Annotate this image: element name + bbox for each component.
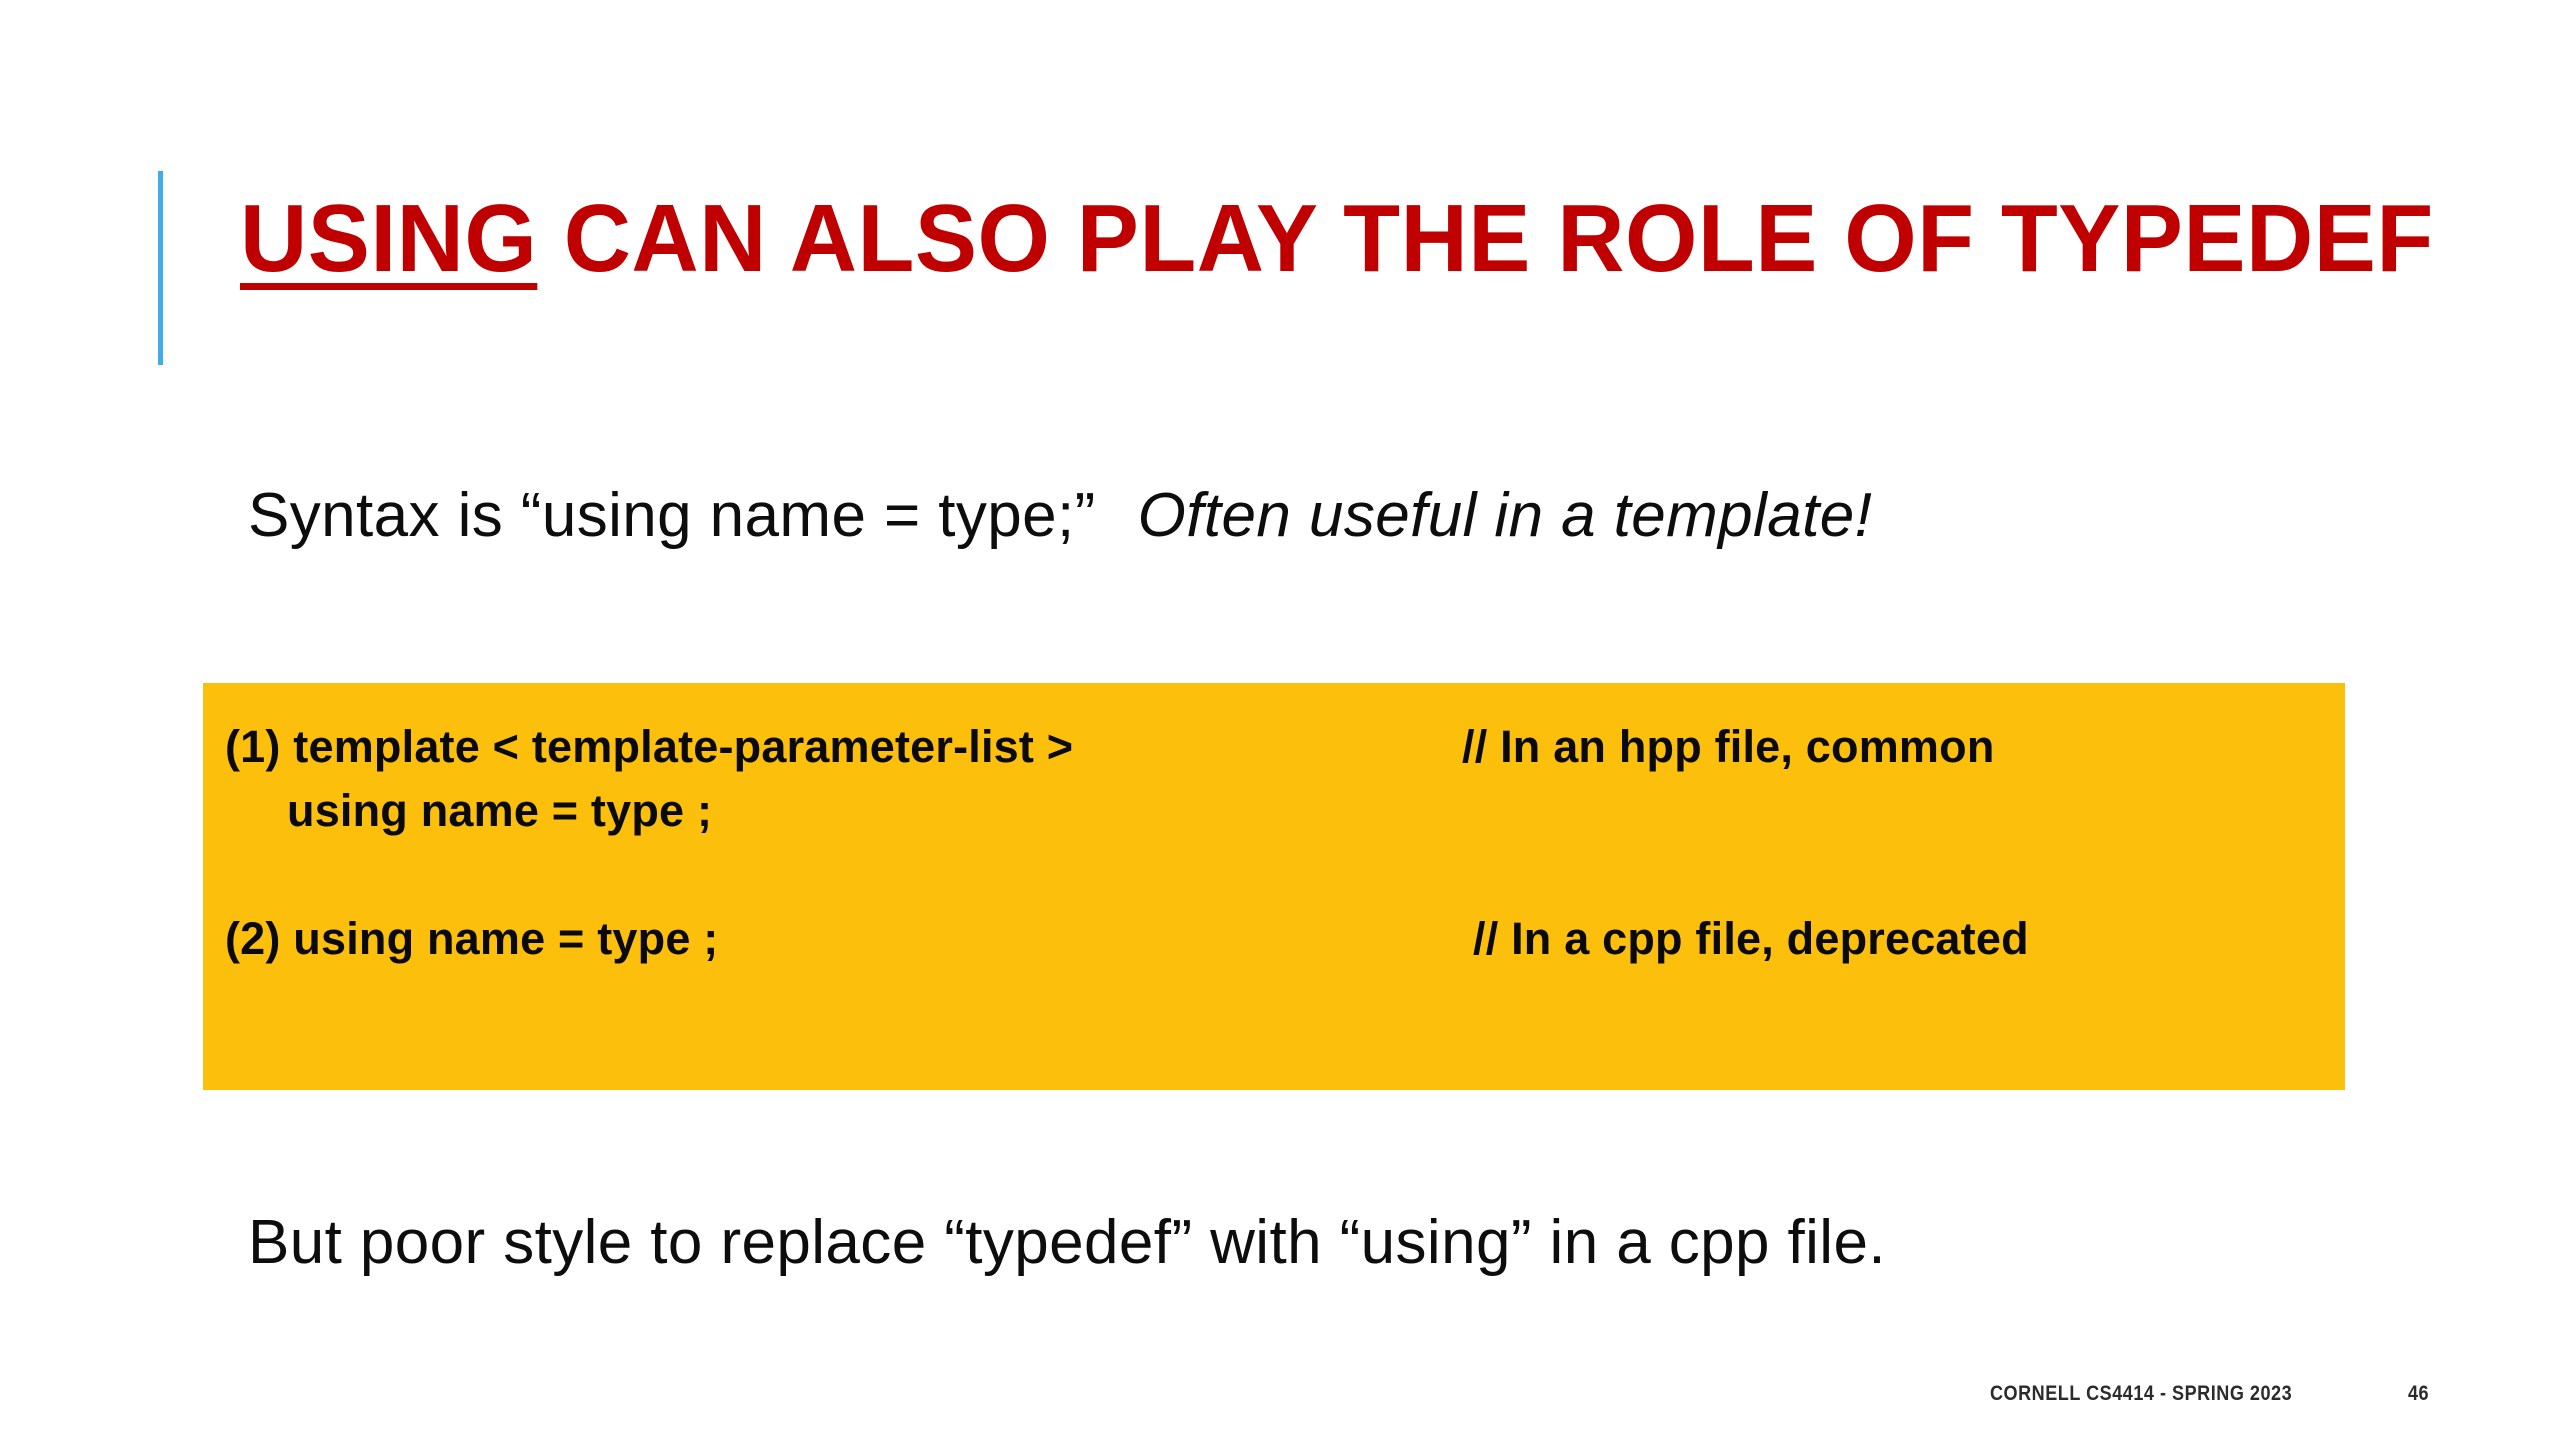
code-row: (1) template < template-parameter-list >… — [225, 715, 2345, 779]
syntax-subtitle-emphasis: Often useful in a template! — [1138, 481, 1873, 550]
slide-footer: CORNELL CS4414 - SPRING 2023 46 — [1990, 1382, 2510, 1412]
code-row-spacer — [225, 843, 2345, 907]
footer-course-label: CORNELL CS4414 - SPRING 2023 — [1990, 1382, 2292, 1406]
footer-page-number: 46 — [2408, 1382, 2429, 1406]
code-row-comment: // In an hpp file, common — [1462, 715, 1995, 779]
page-title: using can also play the role of typedef — [240, 183, 2423, 295]
code-row: (2) using name = type ; // In a cpp file… — [225, 907, 2345, 971]
code-row: using name = type ; — [225, 779, 2345, 843]
code-row-text: using name = type ; — [225, 779, 712, 843]
code-row-text: (1) template < template-parameter-list > — [225, 715, 1073, 779]
code-row-text: (2) using name = type ; — [225, 907, 718, 971]
syntax-subtitle: Syntax is “using name = type;”Often usef… — [248, 478, 1872, 554]
title-keyword: using — [240, 185, 537, 292]
bottom-note: But poor style to replace “typedef” with… — [248, 1205, 1886, 1281]
title-accent-bar — [158, 171, 163, 365]
code-row-comment: // In a cpp file, deprecated — [1473, 907, 2029, 971]
code-example-panel: (1) template < template-parameter-list >… — [203, 683, 2345, 1090]
slide-canvas: using can also play the role of typedef … — [0, 0, 2560, 1440]
syntax-subtitle-plain: Syntax is “using name = type;” — [248, 481, 1096, 550]
title-rest: can also play the role of typedef — [537, 185, 2433, 292]
code-example-rows: (1) template < template-parameter-list >… — [225, 715, 2345, 971]
